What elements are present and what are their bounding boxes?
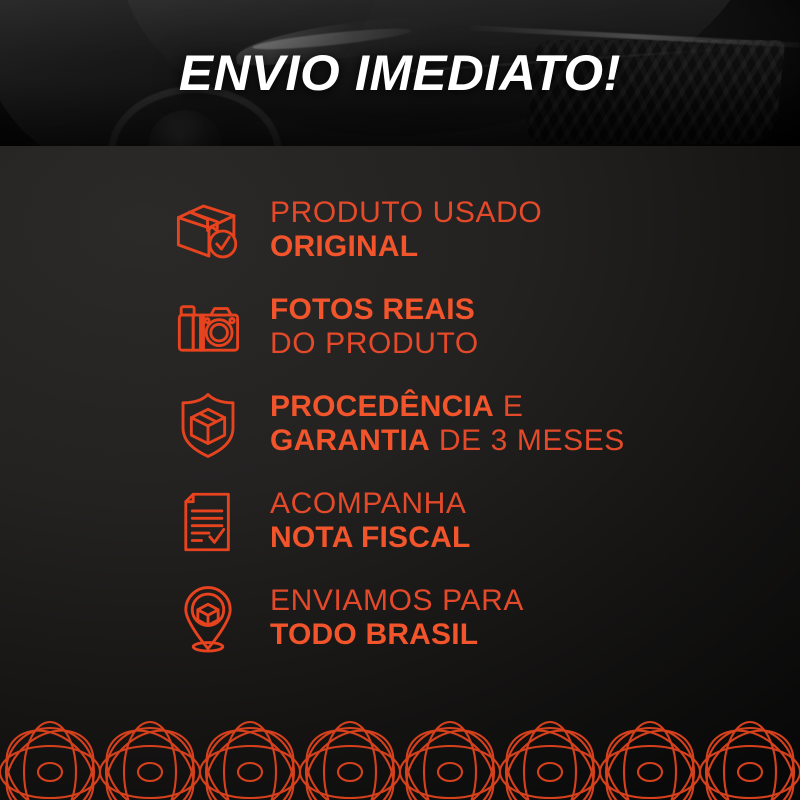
header-banner: ENVIO IMEDIATO! — [0, 0, 800, 146]
shield-box-icon — [168, 385, 248, 465]
feature-line-2: GARANTIA DE 3 MESES — [270, 426, 625, 457]
feature-line-2: DO PRODUTO — [270, 329, 479, 360]
feature-line-1: ENVIAMOS PARA — [270, 586, 524, 617]
feature-line-2: TODO BRASIL — [270, 620, 524, 651]
camera-icon — [168, 288, 248, 368]
feature-text: PROCEDÊNCIA E GARANTIA DE 3 MESES — [270, 392, 625, 456]
feature-line-1: ACOMPANHA — [270, 489, 471, 520]
feature-row-todo-brasil: ENVIAMOS PARA TODO BRASIL — [0, 570, 800, 667]
feature-list: PRODUTO USADO ORIGINAL — [0, 146, 800, 692]
map-pin-box-icon — [168, 579, 248, 659]
feature-text: ENVIAMOS PARA TODO BRASIL — [270, 586, 524, 650]
feature-line-1: PROCEDÊNCIA E — [270, 392, 625, 423]
geometric-lattice-border — [0, 692, 800, 800]
feature-row-fotos-reais: FOTOS REAIS DO PRODUTO — [0, 279, 800, 376]
feature-line-1-light: E — [494, 390, 524, 423]
feature-line-2: NOTA FISCAL — [270, 523, 471, 554]
feature-line-1: FOTOS REAIS — [270, 295, 479, 326]
feature-line-2: ORIGINAL — [270, 232, 542, 263]
promo-banner: ENVIO IMEDIATO! PRODUTO USADO ORIGINAL — [0, 0, 800, 800]
feature-row-produto-usado-original: PRODUTO USADO ORIGINAL — [0, 182, 800, 279]
invoice-document-icon — [168, 482, 248, 562]
feature-text: ACOMPANHA NOTA FISCAL — [270, 489, 471, 553]
feature-text: FOTOS REAIS DO PRODUTO — [270, 295, 479, 359]
feature-line-1: PRODUTO USADO — [270, 198, 542, 229]
feature-line-1-bold: PROCEDÊNCIA — [270, 390, 494, 423]
feature-row-procedencia-garantia: PROCEDÊNCIA E GARANTIA DE 3 MESES — [0, 376, 800, 473]
feature-line-2-light: DE 3 MESES — [430, 424, 625, 457]
feature-text: PRODUTO USADO ORIGINAL — [270, 198, 542, 262]
page-title: ENVIO IMEDIATO! — [0, 0, 800, 146]
feature-line-2-bold: GARANTIA — [270, 424, 430, 457]
box-check-icon — [168, 191, 248, 271]
feature-row-nota-fiscal: ACOMPANHA NOTA FISCAL — [0, 473, 800, 570]
